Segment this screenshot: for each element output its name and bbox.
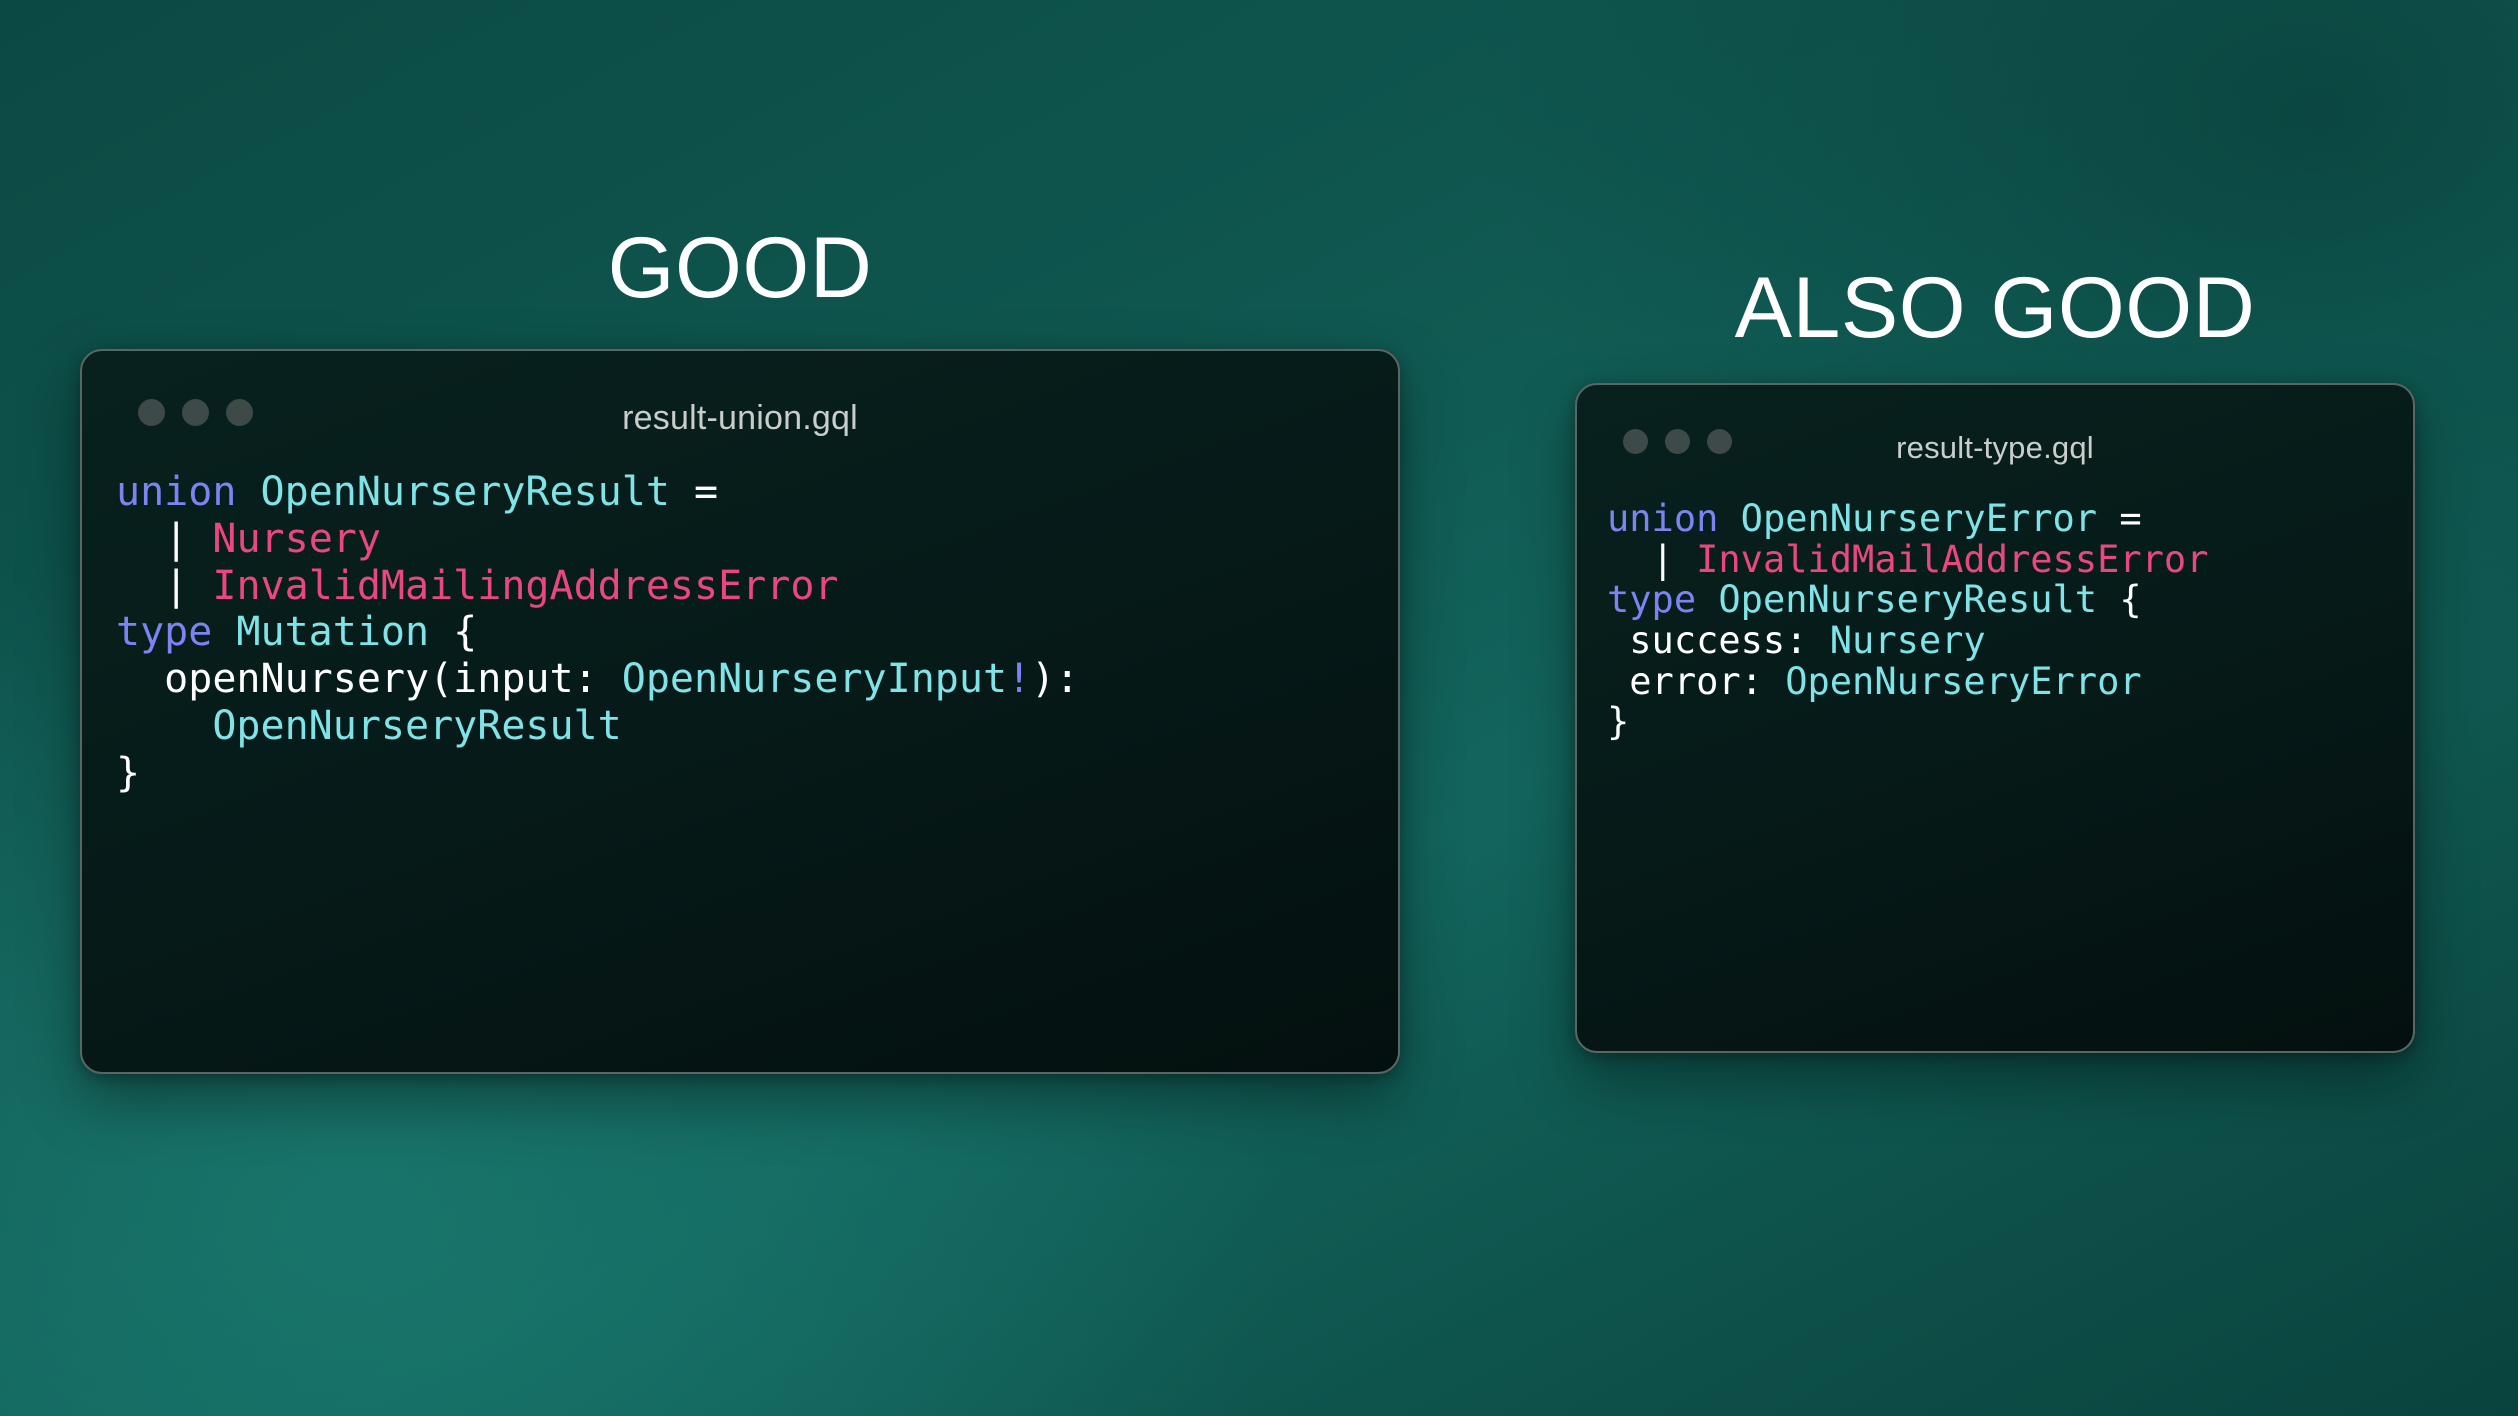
- code-token-bang: !: [1007, 656, 1031, 702]
- code-token-type: OpenNurseryError: [1741, 497, 2097, 540]
- code-window-result-union: result-union.gql union OpenNurseryResult…: [80, 349, 1400, 1074]
- code-token-kw: type: [116, 609, 212, 655]
- code-token-plain: [1674, 538, 1696, 581]
- code-token-punct: {: [429, 609, 477, 655]
- code-token-member: InvalidMailAddressError: [1696, 538, 2208, 581]
- code-token-plain: =: [670, 469, 742, 515]
- code-token-pipe: |: [164, 563, 188, 609]
- code-token-plain: [116, 516, 164, 562]
- code-token-plain: [188, 563, 212, 609]
- code-token-plain: [188, 516, 212, 562]
- slide-canvas: GOOD result-union.gql union OpenNurseryR…: [0, 0, 2518, 1416]
- window-filename: result-type.gql: [1607, 430, 2383, 466]
- code-token-plain: [1696, 578, 1718, 621]
- code-token-plain: error:: [1607, 660, 1785, 703]
- window-filename: result-union.gql: [116, 399, 1364, 438]
- code-token-type: Mutation: [236, 609, 429, 655]
- code-token-plain: =: [2097, 497, 2164, 540]
- code-token-type: OpenNurseryInput: [622, 656, 1007, 702]
- code-token-type: OpenNurseryResult: [212, 703, 621, 749]
- code-token-punct: ):: [1031, 656, 1079, 702]
- code-token-punct: }: [1607, 700, 1629, 743]
- panel-good: GOOD result-union.gql union OpenNurseryR…: [80, 225, 1400, 1074]
- code-token-plain: [116, 703, 212, 749]
- code-token-plain: openNursery(input:: [116, 656, 622, 702]
- code-token-type: OpenNurseryError: [1785, 660, 2141, 703]
- code-token-pipe: |: [1652, 538, 1674, 581]
- heading-also-good: ALSO GOOD: [1575, 265, 2415, 351]
- heading-good: GOOD: [80, 225, 1400, 311]
- window-titlebar: result-type.gql: [1607, 411, 2383, 477]
- code-token-plain: [1718, 497, 1740, 540]
- code-token-member: InvalidMailingAddressError: [212, 563, 838, 609]
- code-token-type: Nursery: [1830, 619, 1986, 662]
- code-token-punct: {: [2097, 578, 2142, 621]
- code-token-pipe: |: [164, 516, 188, 562]
- code-token-kw: union: [116, 469, 236, 515]
- code-token-kw: type: [1607, 578, 1696, 621]
- code-window-result-type: result-type.gql union OpenNurseryError =…: [1575, 383, 2415, 1053]
- code-token-plain: [116, 563, 164, 609]
- code-token-plain: [236, 469, 260, 515]
- code-token-type: OpenNurseryResult: [1718, 578, 2097, 621]
- code-token-plain: [212, 609, 236, 655]
- code-block-result-type: union OpenNurseryError = | InvalidMailAd…: [1607, 499, 2383, 743]
- code-token-member: Nursery: [212, 516, 381, 562]
- code-token-kw: union: [1607, 497, 1718, 540]
- code-token-plain: success:: [1607, 619, 1830, 662]
- code-block-result-union: union OpenNurseryResult = | Nursery | In…: [116, 469, 1364, 797]
- code-token-type: OpenNurseryResult: [261, 469, 670, 515]
- panel-also-good: ALSO GOOD result-type.gql union OpenNurs…: [1575, 265, 2415, 1053]
- code-token-plain: [1607, 538, 1652, 581]
- code-token-punct: }: [116, 750, 140, 796]
- window-titlebar: result-union.gql: [116, 379, 1364, 445]
